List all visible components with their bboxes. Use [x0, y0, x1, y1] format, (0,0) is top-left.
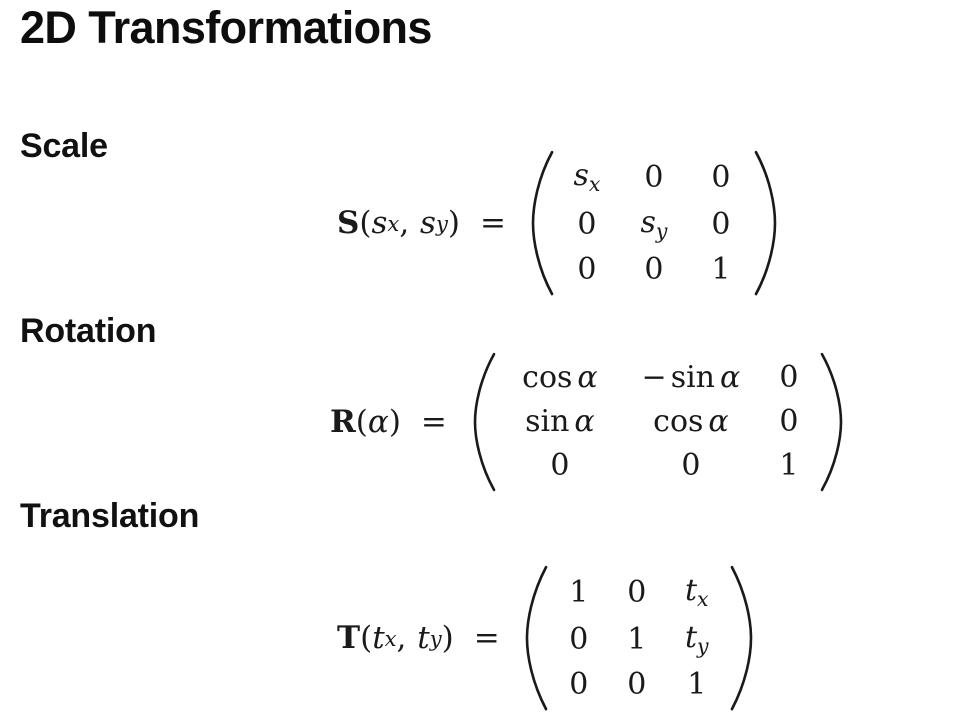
left-paren-bracket-icon: [469, 352, 497, 492]
equation-translation: T(tx, ty) = 1 0 tx 0 1 ty 0 0 1: [337, 565, 756, 711]
arg-subscript-y: y: [430, 628, 442, 649]
matrix-cell: cosα: [522, 356, 598, 400]
section-heading-translation: Translation: [20, 498, 199, 535]
cell-symbol: t: [685, 620, 697, 655]
arg-subscript-x: x: [385, 628, 397, 649]
cell-subscript: x: [589, 174, 601, 194]
matrix-cell: 0: [577, 248, 596, 292]
cell-symbol: α: [577, 360, 597, 395]
page-title: 2D Transformations: [20, 4, 432, 51]
equation-rotation-lhs: R(α): [330, 407, 401, 438]
matrix-cell: sinα: [525, 400, 595, 444]
arg-subscript-y: y: [436, 213, 448, 234]
matrix-cell: 0: [779, 356, 798, 400]
cell-symbol: α: [574, 404, 594, 439]
equals-sign: =: [480, 208, 506, 239]
matrix-cell: 0: [711, 203, 730, 247]
arg-s: s: [372, 208, 388, 239]
left-paren-bracket-icon: [528, 150, 554, 296]
cell-symbol: s: [641, 205, 656, 240]
cell-symbol: α: [708, 404, 728, 439]
matrix-scale: sx 0 0 0 sy 0 0 0 1: [528, 150, 780, 296]
cell-subscript: y: [656, 221, 668, 241]
matrix-translation: 1 0 tx 0 1 ty 0 0 1: [522, 565, 756, 711]
right-paren-bracket-icon: [754, 150, 780, 296]
cell-function: cos: [653, 404, 703, 439]
arg-alpha: α: [368, 407, 389, 438]
matrix-cell: 1: [569, 571, 588, 615]
matrix-cell: ty: [685, 616, 709, 663]
right-paren-bracket-icon: [819, 352, 847, 492]
equation-rotation: R(α) = cosα −sinα 0 sinα cosα 0 0 0 1: [330, 352, 847, 492]
matrix-cell: 0: [644, 248, 663, 292]
comma-separator: ,: [399, 208, 409, 239]
matrix-cell: −sinα: [642, 356, 741, 400]
matrix-translation-grid: 1 0 tx 0 1 ty 0 0 1: [548, 565, 730, 711]
right-paren-bracket-icon: [730, 565, 756, 711]
equals-sign: =: [474, 623, 500, 654]
cell-operator: −: [642, 360, 667, 395]
matrix-cell: 0: [569, 663, 588, 707]
matrix-rotation-grid: cosα −sinα 0 sinα cosα 0 0 0 1: [497, 352, 819, 492]
matrix-cell: cosα: [653, 400, 729, 444]
paren-open-icon: (: [356, 407, 368, 438]
matrix-cell: 0: [711, 156, 730, 200]
matrix-cell: 0: [779, 400, 798, 444]
paren-close-icon: ): [448, 208, 460, 239]
arg-s-2: s: [420, 208, 436, 239]
matrix-cell: sx: [574, 154, 601, 201]
arg-t: t: [372, 623, 384, 654]
matrix-cell: 0: [644, 156, 663, 200]
matrix-cell: 0: [627, 663, 646, 707]
comma-separator: ,: [397, 623, 407, 654]
matrix-rotation: cosα −sinα 0 sinα cosα 0 0 0 1: [469, 352, 847, 492]
matrix-symbol-S: S: [337, 208, 359, 239]
cell-symbol: t: [685, 573, 697, 608]
equation-scale-lhs: S(sx, sy): [337, 208, 460, 239]
matrix-cell: 0: [569, 618, 588, 662]
matrix-symbol-T: T: [337, 623, 360, 654]
left-paren-bracket-icon: [522, 565, 548, 711]
cell-symbol: s: [574, 158, 589, 193]
paren-open-icon: (: [360, 623, 372, 654]
section-heading-rotation: Rotation: [20, 313, 156, 350]
paren-open-icon: (: [359, 208, 371, 239]
equals-sign: =: [421, 407, 447, 438]
slide-canvas: 2D Transformations Scale S(sx, sy) = sx …: [0, 0, 960, 726]
cell-function: cos: [522, 360, 572, 395]
arg-subscript-x: x: [387, 213, 399, 234]
section-heading-scale: Scale: [20, 128, 108, 165]
cell-subscript: y: [697, 636, 709, 656]
cell-function: sin: [525, 404, 569, 439]
cell-symbol: α: [720, 360, 740, 395]
matrix-cell: 1: [627, 618, 646, 662]
matrix-cell: 0: [577, 203, 596, 247]
equation-scale: S(sx, sy) = sx 0 0 0 sy 0 0 0 1: [337, 150, 780, 296]
matrix-cell: 0: [681, 444, 700, 488]
cell-function: sin: [671, 360, 715, 395]
equation-translation-lhs: T(tx, ty): [337, 623, 454, 654]
matrix-cell: 1: [711, 248, 730, 292]
matrix-cell: 0: [550, 444, 569, 488]
matrix-symbol-R: R: [330, 407, 356, 438]
cell-subscript: x: [697, 589, 709, 609]
matrix-cell: 0: [627, 571, 646, 615]
matrix-cell: 1: [779, 444, 798, 488]
matrix-cell: sy: [641, 201, 668, 248]
matrix-scale-grid: sx 0 0 0 sy 0 0 0 1: [554, 150, 754, 296]
matrix-cell: tx: [685, 569, 709, 616]
paren-close-icon: ): [389, 407, 401, 438]
arg-t-2: t: [417, 623, 429, 654]
matrix-cell: 1: [687, 663, 706, 707]
paren-close-icon: ): [442, 623, 454, 654]
